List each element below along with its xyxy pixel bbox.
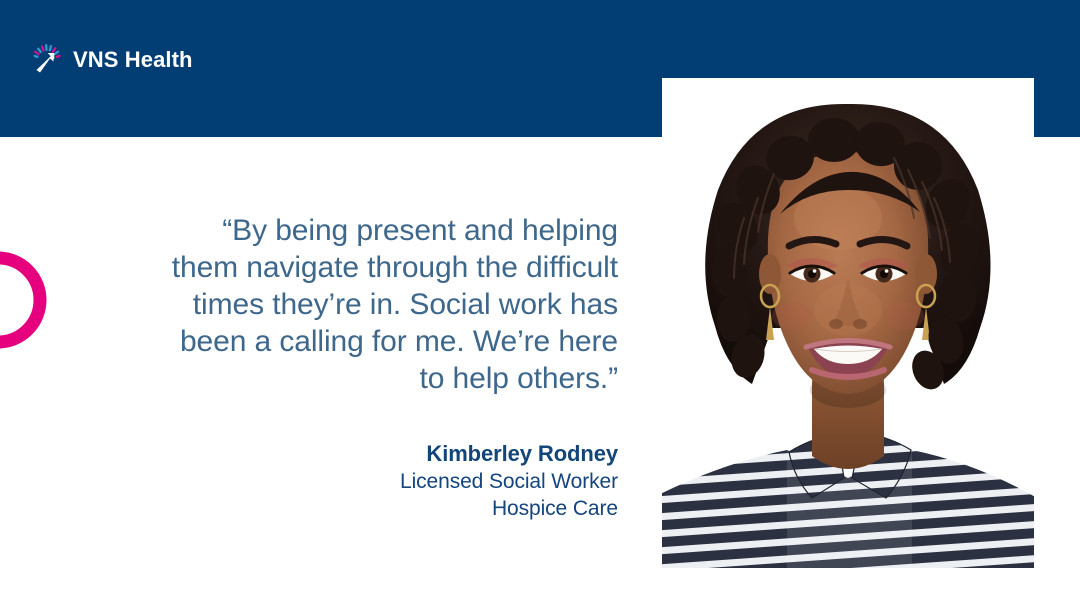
attribution-name: Kimberley Rodney <box>150 440 618 468</box>
half-ring-decoration <box>0 250 48 350</box>
attribution-role: Licensed Social Worker <box>150 468 618 495</box>
quote-block: “By being present and helping them navig… <box>150 212 618 397</box>
portrait-frame: Portrait photograph of Kimberley Rodney,… <box>662 78 1034 568</box>
portrait-photo: Portrait photograph of Kimberley Rodney,… <box>662 78 1034 568</box>
brand-lockup[interactable]: VNS Health <box>30 43 193 77</box>
attribution-department: Hospice Care <box>150 495 618 522</box>
brand-name: VNS Health <box>73 49 193 71</box>
vns-health-starburst-icon <box>30 43 64 77</box>
testimonial-slide: VNS Health “By being present and helping… <box>0 0 1080 608</box>
attribution-block: Kimberley Rodney Licensed Social Worker … <box>150 440 618 522</box>
quote-text: “By being present and helping them navig… <box>150 212 618 397</box>
